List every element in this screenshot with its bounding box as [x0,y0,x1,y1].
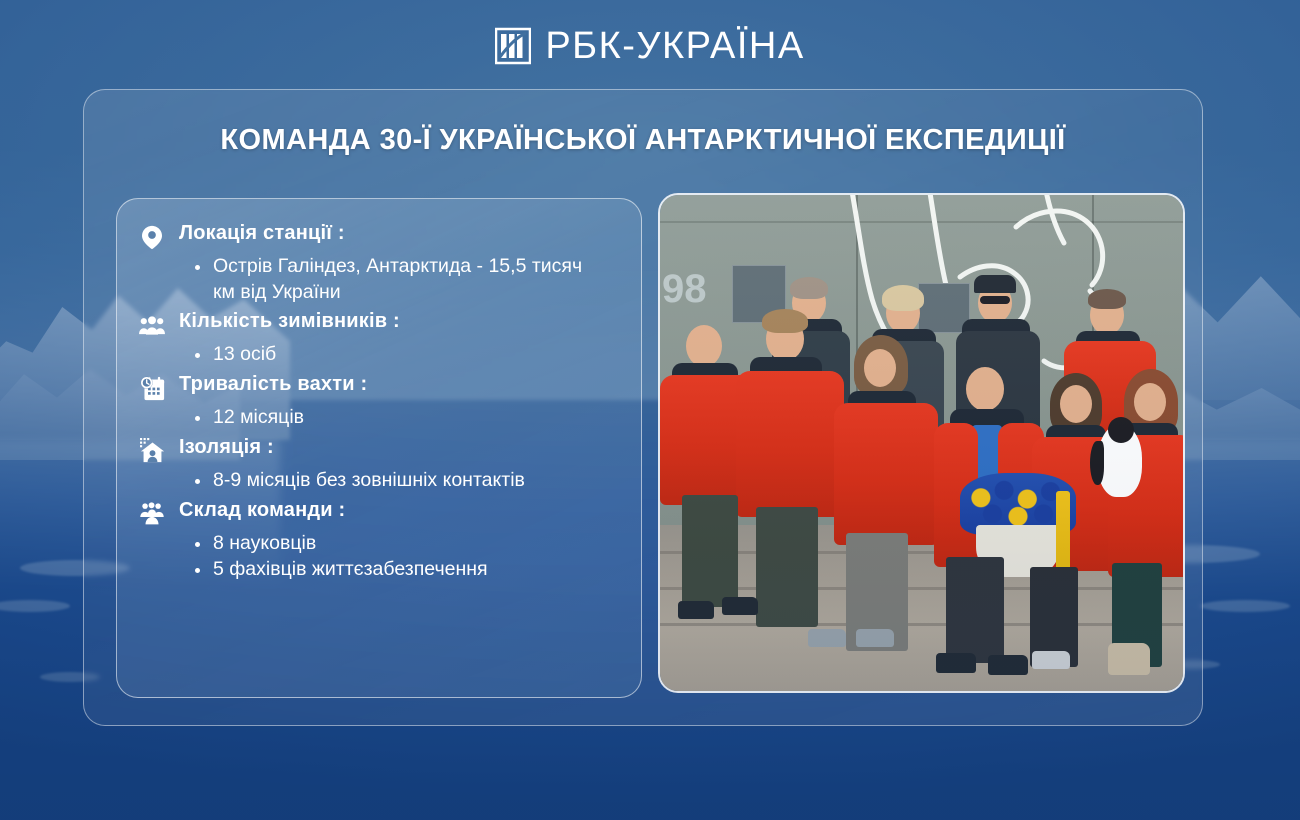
calendar-clock-icon [139,374,165,402]
fact-bullet: 8 науковців [193,531,621,557]
fact-label: Склад команди : [179,498,345,523]
fact-bullet: Острів Галіндез, Антарктида - 15,5 тисяч… [193,254,583,305]
brand-name: РБК-УКРАЇНА [545,25,804,68]
location-pin-icon [139,223,165,251]
fact-header: Ізоляція : [139,435,621,465]
fact-bullet: 13 осіб [193,342,621,368]
fact-team-composition: Склад команди : 8 науковців 5 фахівців ж… [139,498,621,583]
fact-label: Ізоляція : [179,435,274,460]
fact-shift-duration: Тривалість вахти : 12 місяців [139,372,621,431]
page-title: КОМАНДА 30-Ї УКРАЇНСЬКОЇ АНТАРКТИЧНОЇ ЕК… [84,124,1202,157]
three-people-icon [139,311,165,339]
fact-bullet-list: 13 осіб [193,342,621,368]
fact-label: Тривалість вахти : [179,372,367,397]
fact-winterers-count: Кількість зимівників : 13 осіб [139,309,621,368]
fact-bullet-list: 8-9 місяців без зовнішніх контактів [193,468,621,494]
fact-isolation: Ізоляція : 8-9 місяців без зовнішніх кон… [139,435,621,494]
photo-tone-overlay [660,195,1183,691]
fact-bullet: 5 фахівців життєзабезпечення [193,557,621,583]
fact-header: Тривалість вахти : [139,372,621,402]
fact-header: Кількість зимівників : [139,309,621,339]
fact-bullet: 12 місяців [193,405,621,431]
fact-label: Локація станції : [179,221,345,246]
fact-bullet-list: Острів Галіндез, Антарктида - 15,5 тисяч… [193,254,621,305]
facts-panel: Локація станції : Острів Галіндез, Антар… [116,198,642,698]
fact-header: Склад команди : [139,498,621,528]
fact-bullet-list: 12 місяців [193,405,621,431]
house-person-isolation-icon [139,437,165,465]
fact-location: Локація станції : Острів Галіндез, Антар… [139,221,621,305]
fact-header: Локація станції : [139,221,621,251]
fact-bullet-list: 8 науковців 5 фахівців життєзабезпечення [193,531,621,583]
fact-label: Кількість зимівників : [179,309,400,334]
team-photo: 98 [658,193,1185,693]
rbc-bars-logo-icon [495,26,531,66]
team-group-icon [139,500,165,528]
fact-bullet: 8-9 місяців без зовнішніх контактів [193,468,621,494]
brand-header: РБК-УКРАЇНА [0,0,1300,92]
